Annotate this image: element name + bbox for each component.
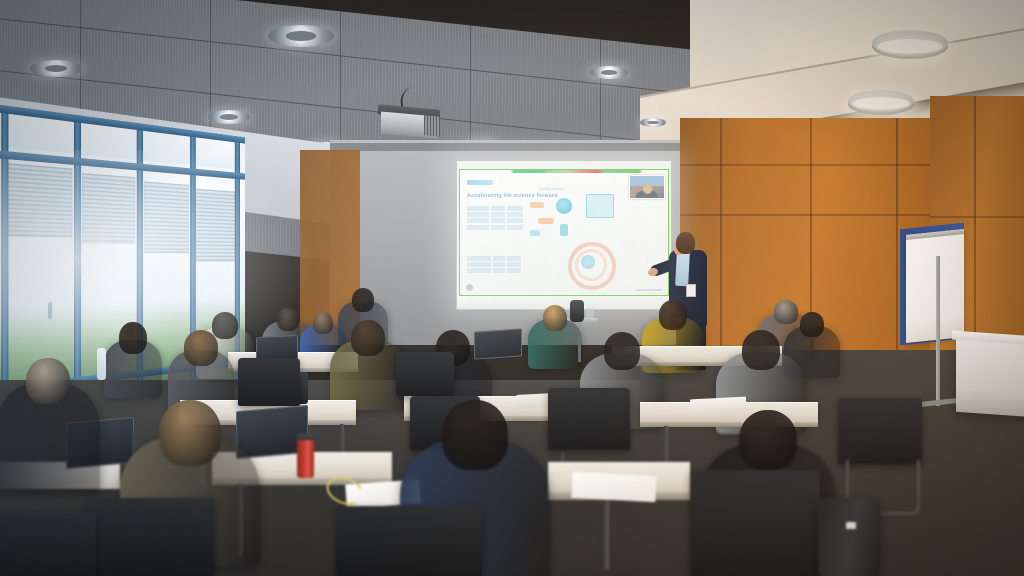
slide-node-teal <box>556 198 572 214</box>
rolling-suitcase <box>818 498 880 576</box>
audience-member-head <box>352 288 374 312</box>
audience-member-head <box>543 305 567 331</box>
table-leg <box>604 500 609 570</box>
chair[interactable] <box>0 512 96 576</box>
flipchart-paper <box>906 229 964 343</box>
presenter-video-thumbnail <box>629 175 665 199</box>
disc-lamp-1 <box>872 30 948 56</box>
slide-chip-orange <box>530 202 544 208</box>
chair[interactable] <box>238 358 300 406</box>
audience-member-head <box>26 358 70 404</box>
slide-arrow-down-icon <box>560 224 568 236</box>
chair[interactable] <box>396 352 454 396</box>
slide-chip-orange-2 <box>538 218 554 224</box>
disc-lamp-2 <box>848 90 914 112</box>
sideboard-cabinet <box>956 336 1024 420</box>
audience-member <box>330 320 406 410</box>
suitcase-label <box>846 522 856 529</box>
audience-member <box>528 305 582 369</box>
audience-member-head <box>442 400 508 470</box>
audience-member-head <box>184 330 218 366</box>
chair[interactable] <box>86 498 214 576</box>
conference-room-photo: roadmap overview Accelerating life scien… <box>0 0 1024 576</box>
chair[interactable] <box>548 388 630 450</box>
thermos-red-lid <box>297 434 314 440</box>
chair[interactable] <box>690 470 820 576</box>
papers-sheet[interactable] <box>571 472 656 502</box>
audience-member-head <box>351 320 385 356</box>
downlight-icon-6 <box>590 66 628 79</box>
water-glass <box>586 308 594 319</box>
slide-title: Accelerating life science forward <box>467 193 558 199</box>
thermos-red <box>297 438 314 478</box>
chair[interactable] <box>336 506 482 576</box>
audience-member-head <box>604 332 640 370</box>
slide-box-teal <box>586 194 614 218</box>
downlight-icon-1 <box>30 60 82 77</box>
audience-member-head <box>659 300 687 330</box>
audience-member <box>0 358 100 493</box>
audience-member <box>104 322 162 398</box>
slide-page-badge <box>466 284 473 291</box>
downlight-icon-7 <box>640 118 666 127</box>
audience-member-head <box>277 308 299 331</box>
slide-footer-note <box>636 289 662 292</box>
slide-diagram-core <box>581 255 595 269</box>
slide-chip-teal <box>530 230 540 236</box>
audience-member-head <box>119 322 147 354</box>
downlight-icon-2 <box>268 25 334 47</box>
presenter-head <box>676 232 695 254</box>
audience-member-head <box>159 400 221 466</box>
projector-vent <box>424 115 440 136</box>
audience-member-head <box>739 410 797 470</box>
projection-screen: roadmap overview Accelerating life scien… <box>456 160 672 310</box>
flipchart-stand <box>936 256 940 406</box>
wall-back-trim <box>330 143 710 151</box>
downlight-icon-3 <box>208 110 250 124</box>
slide-subtitle: roadmap overview <box>538 187 564 191</box>
presenter-name-badge <box>686 284 696 297</box>
presenter-shirt <box>675 252 690 287</box>
slide-table-lower <box>467 256 525 275</box>
laptop-screen[interactable] <box>474 328 522 359</box>
chair[interactable] <box>838 398 922 464</box>
slide-progress-bar <box>460 170 668 173</box>
slide-table-upper <box>467 206 525 231</box>
slide-logo-icon <box>467 180 493 185</box>
audience-member-head <box>742 330 780 370</box>
presentation-slide: roadmap overview Accelerating life scien… <box>459 169 669 296</box>
